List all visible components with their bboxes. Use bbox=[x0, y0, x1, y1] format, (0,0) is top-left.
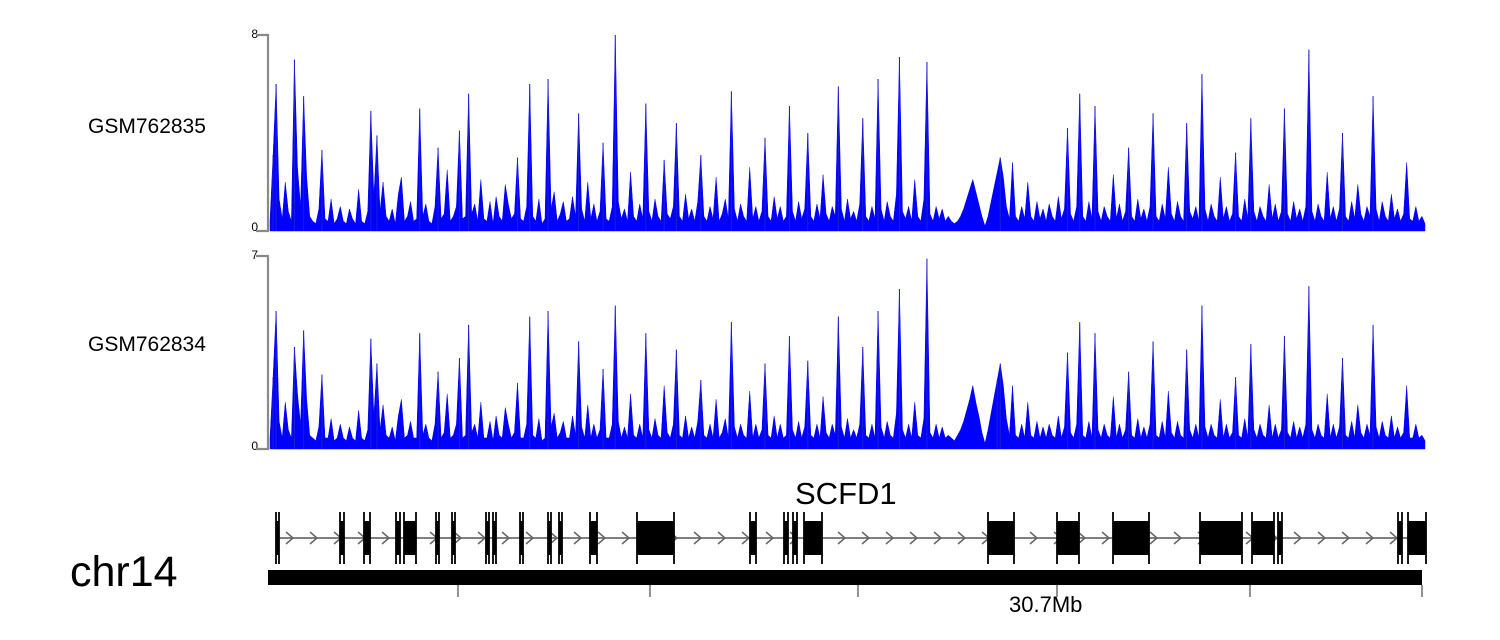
ideogram-bar bbox=[268, 570, 1422, 597]
track1-axis bbox=[256, 35, 268, 231]
track1-signal-area bbox=[270, 35, 1425, 231]
genome-browser-figure: GSM762835 GSM762834 8 0 7 0 chr14 SCFD1 … bbox=[0, 0, 1500, 640]
track2-axis bbox=[256, 256, 268, 449]
gene-model-track bbox=[276, 512, 1426, 564]
plot-canvas bbox=[0, 0, 1500, 640]
track2-signal-area bbox=[270, 259, 1425, 449]
